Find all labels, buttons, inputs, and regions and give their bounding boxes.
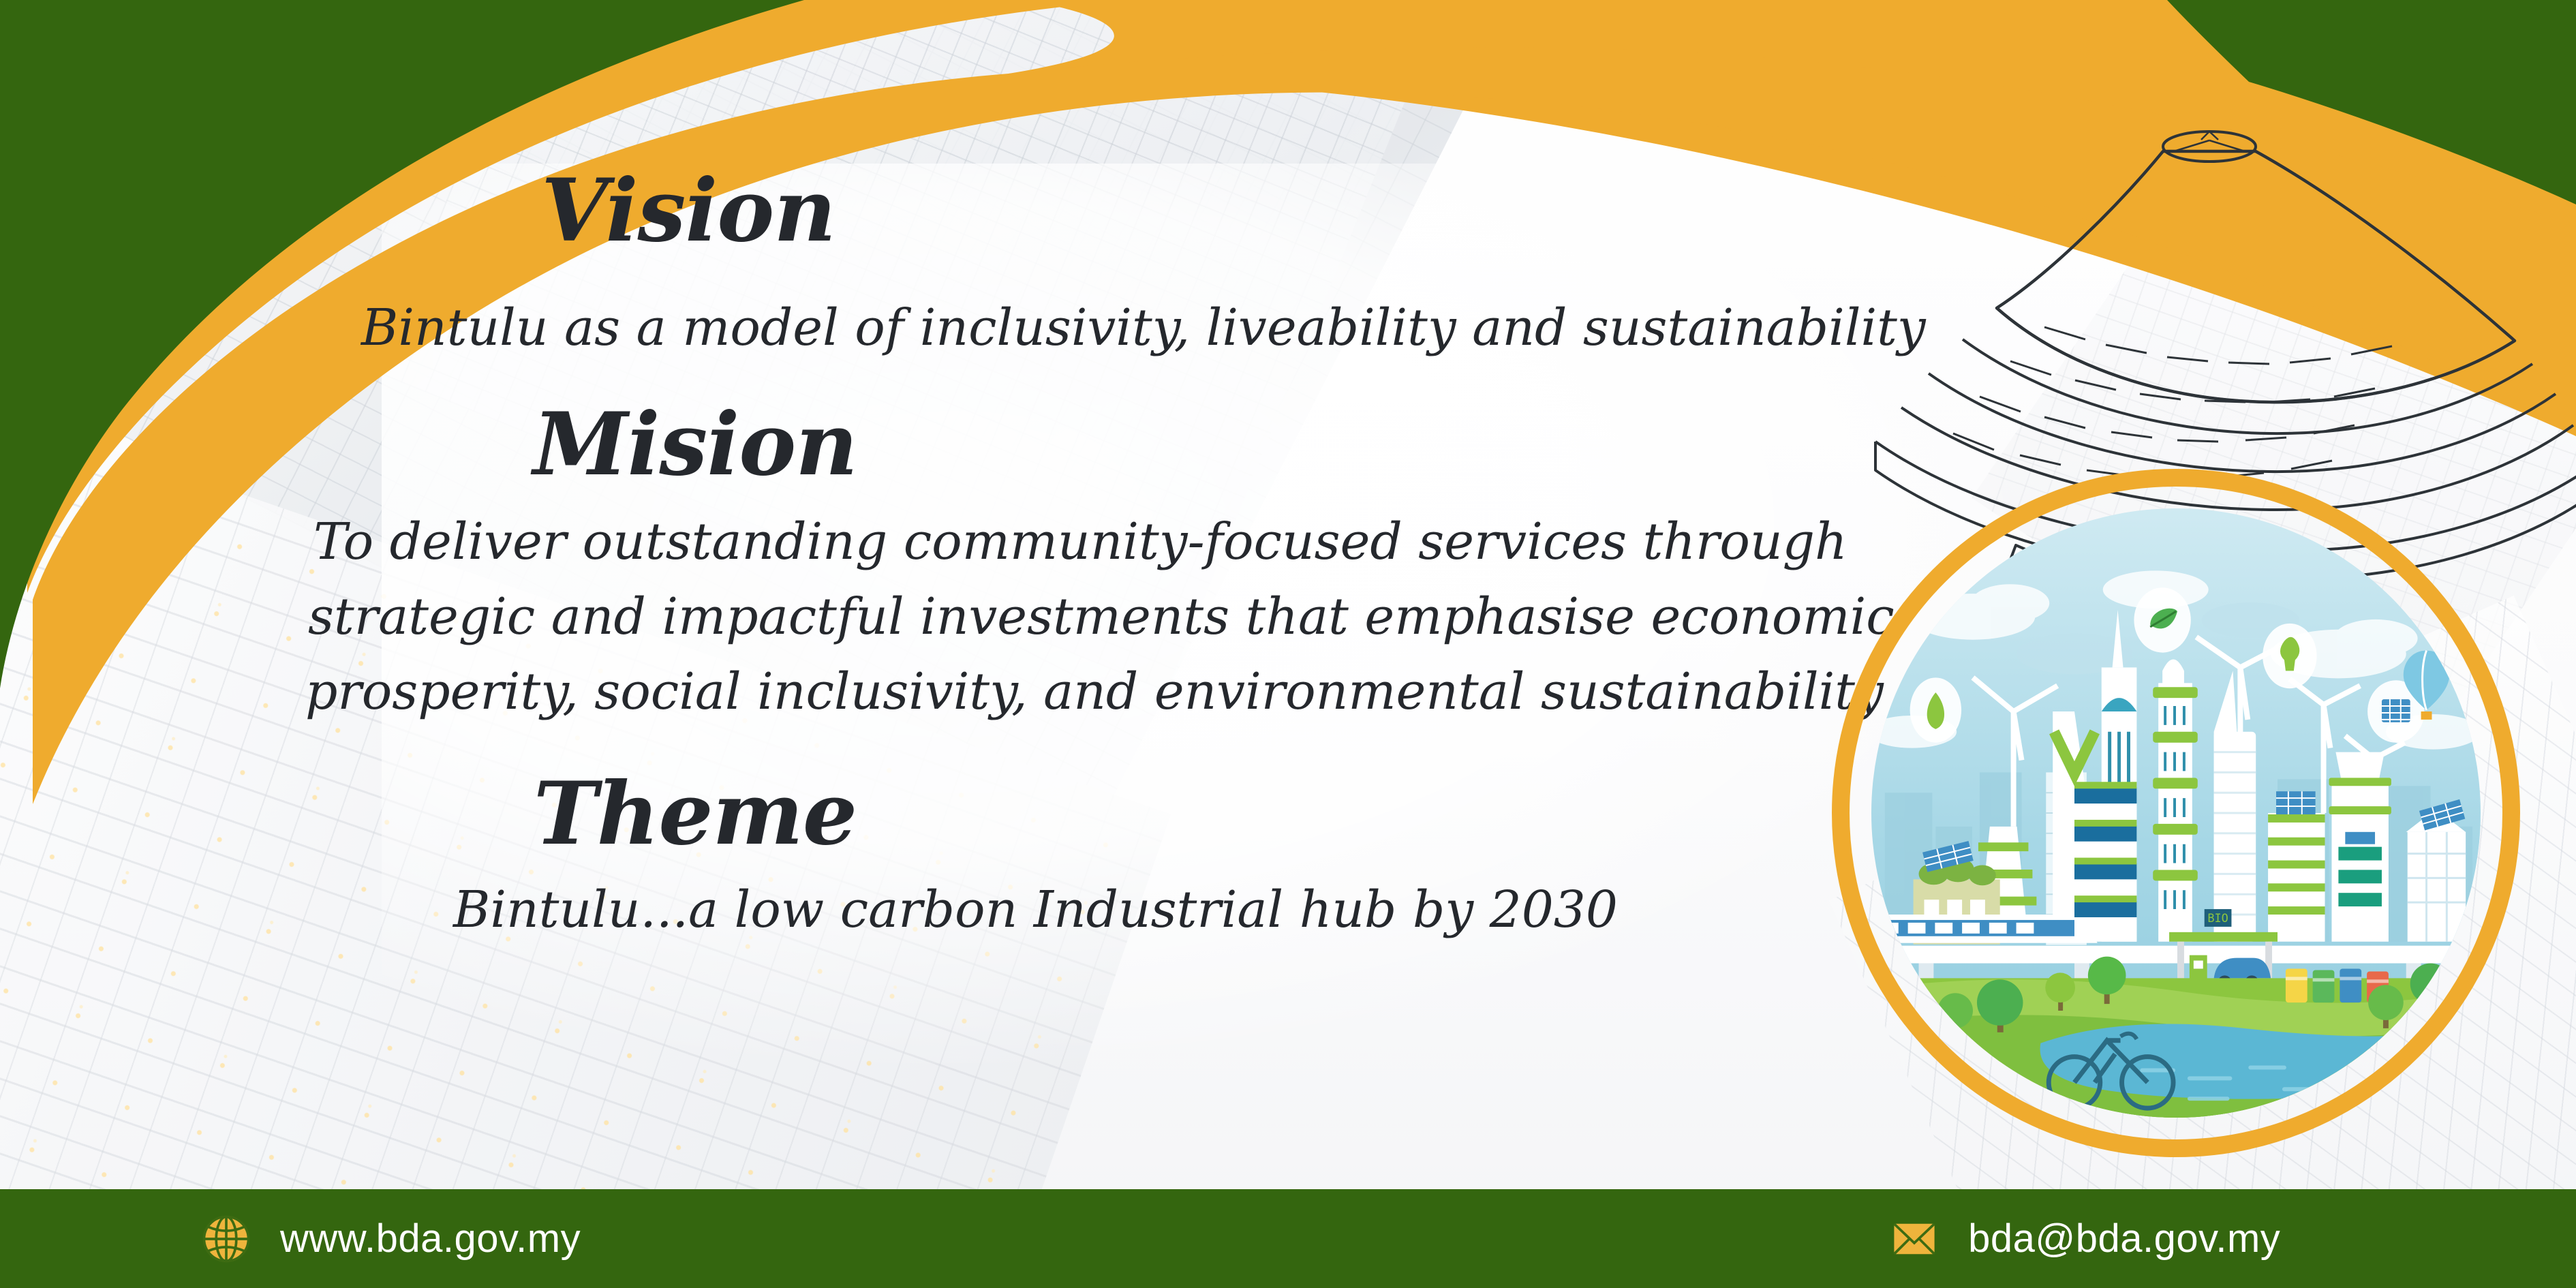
poster-canvas: Vision Bintulu as a model of inclusivity… [0, 0, 2576, 1288]
email-text: bda@bda.gov.my [1968, 1216, 2280, 1261]
envelope-icon [1889, 1210, 1939, 1268]
globe-icon [201, 1210, 251, 1268]
footer-website[interactable]: www.bda.gov.my [201, 1210, 581, 1268]
eco-city-badge: BIO [1832, 469, 2520, 1157]
eco-city-ring [1832, 469, 2520, 1157]
website-text: www.bda.gov.my [280, 1216, 581, 1261]
footer-bar: www.bda.gov.my bda@bda.gov.my [0, 1189, 2576, 1288]
footer-email[interactable]: bda@bda.gov.my [1889, 1210, 2280, 1268]
